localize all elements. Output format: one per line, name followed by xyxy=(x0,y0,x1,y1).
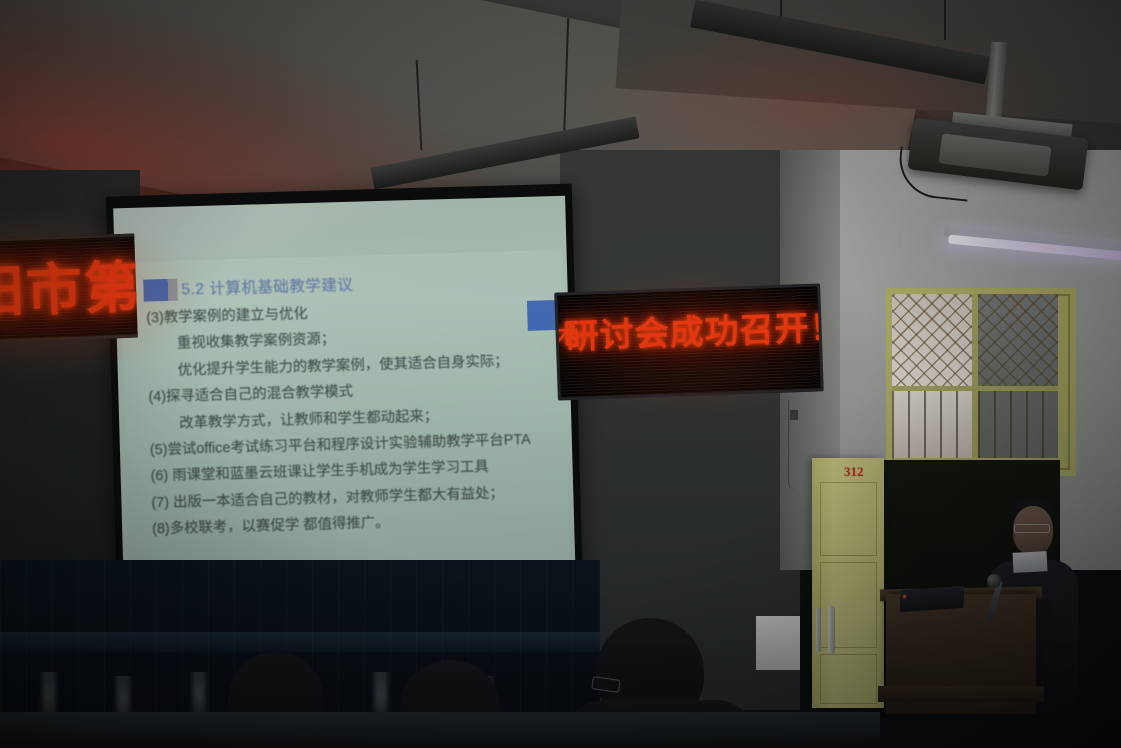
window-pane-right xyxy=(978,294,1058,458)
window-light-gap xyxy=(756,616,800,670)
window-bars xyxy=(892,389,972,458)
curtain-light-band xyxy=(0,632,600,652)
led-banner-left: 阳市第 xyxy=(0,234,138,343)
presenter-shirt-collar xyxy=(1012,551,1047,573)
slide-line: (8)多校联考，以赛促学 都值得推广。 xyxy=(152,511,562,537)
slide-line: (5)尝试office考试练习平台和程序设计实验辅助教学平台PTA xyxy=(150,432,560,458)
window-pane-left xyxy=(892,294,972,458)
conference-room-scene: 5.2 计算机基础教学建议 (3)教学案例的建立与优化 重视收集教学案例资源； … xyxy=(0,0,1121,748)
microphone-head xyxy=(987,574,1001,588)
slide-line: 重视收集教学案例资源； xyxy=(147,326,557,352)
slide-line: (6) 雨课堂和蓝墨云班课让学生手机成为学生学习工具 xyxy=(151,458,561,484)
led-banner-right: 术 研讨会成功召开！ xyxy=(554,283,824,400)
presenter-glasses xyxy=(1014,524,1050,533)
slide-accent-block-left xyxy=(143,279,178,302)
slide-line: 优化提升学生能力的教学案例，使其适合自身实际； xyxy=(148,353,558,379)
slide-title: 5.2 计算机基础教学建议 xyxy=(181,273,353,300)
led-banner-right-text: 研讨会成功召开！ xyxy=(564,300,824,359)
slide-body: (3)教学案例的建立与优化 重视收集教学案例资源； 优化提升学生能力的教学案例，… xyxy=(146,300,562,549)
window-grill xyxy=(892,294,972,389)
door-handle[interactable] xyxy=(816,608,821,652)
window-grill xyxy=(978,294,1058,389)
window-bars xyxy=(978,389,1058,458)
door-panel-lower xyxy=(820,654,877,704)
slide-line: (4)探寻适合自己的混合教学模式 xyxy=(148,379,558,405)
door-icon[interactable]: 312 xyxy=(812,458,884,708)
window-icon xyxy=(886,288,1076,476)
slide-line: (7) 出版一本适合自己的教材，对教师学生都大有益处； xyxy=(151,485,561,511)
window-mullion-horizontal xyxy=(892,386,1058,391)
laptop-power-led xyxy=(903,595,906,598)
door-panel-upper xyxy=(820,482,877,556)
door-handle-bar[interactable] xyxy=(828,606,835,654)
conference-table xyxy=(0,712,880,748)
podium-base xyxy=(878,686,1044,702)
wall-socket xyxy=(790,410,798,420)
room-number-label: 312 xyxy=(844,464,864,480)
laptop-icon[interactable] xyxy=(900,586,965,613)
led-banner-left-text: 阳市第 xyxy=(0,242,138,329)
slide-line: (3)教学案例的建立与优化 xyxy=(146,300,556,326)
slide-line: 改革教学方式，让教师和学生都动起来； xyxy=(149,406,559,432)
window-mullion-vertical xyxy=(972,294,978,458)
light-hanger-rod-4 xyxy=(944,0,946,40)
